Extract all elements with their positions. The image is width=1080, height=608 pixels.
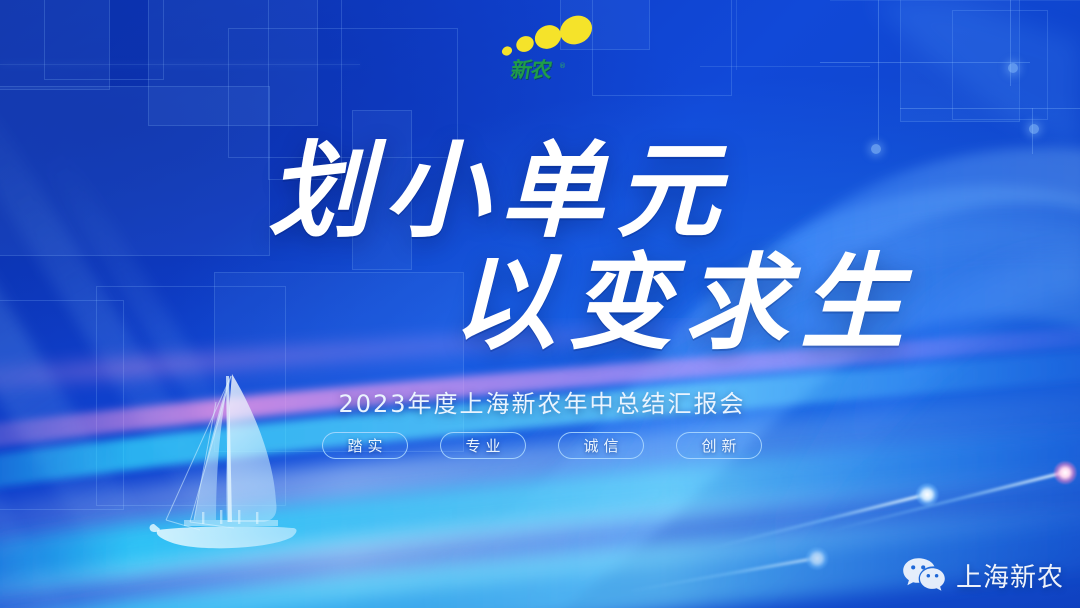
- headline: 划小单元 以变求生: [0, 138, 1080, 356]
- value-tag: 创新: [676, 432, 762, 459]
- headline-line-2: 以变求生: [452, 250, 1080, 356]
- value-tags: 踏实 专业 诚信 创新: [0, 432, 1080, 459]
- headline-line-1: 划小单元: [268, 138, 1080, 244]
- logo-dots-icon: [497, 14, 593, 64]
- wechat-icon: [902, 556, 946, 594]
- wechat-watermark: 上海新农: [902, 556, 1064, 594]
- wechat-account-name: 上海新农: [956, 557, 1064, 594]
- brand-logo: 新农 ®: [497, 14, 593, 94]
- value-tag: 诚信: [558, 432, 644, 459]
- logo-brand-text: 新农: [509, 60, 553, 81]
- value-tag: 踏实: [322, 432, 408, 459]
- value-tag: 专业: [440, 432, 526, 459]
- subtitle: 2023年度上海新农年中总结汇报会: [0, 384, 1080, 419]
- logo-registered-mark: ®: [559, 62, 566, 70]
- poster-canvas: 新农 ® 划小单元 以变求生 2023年度上海新农年中总结汇报会 踏实 专业 诚…: [0, 0, 1080, 608]
